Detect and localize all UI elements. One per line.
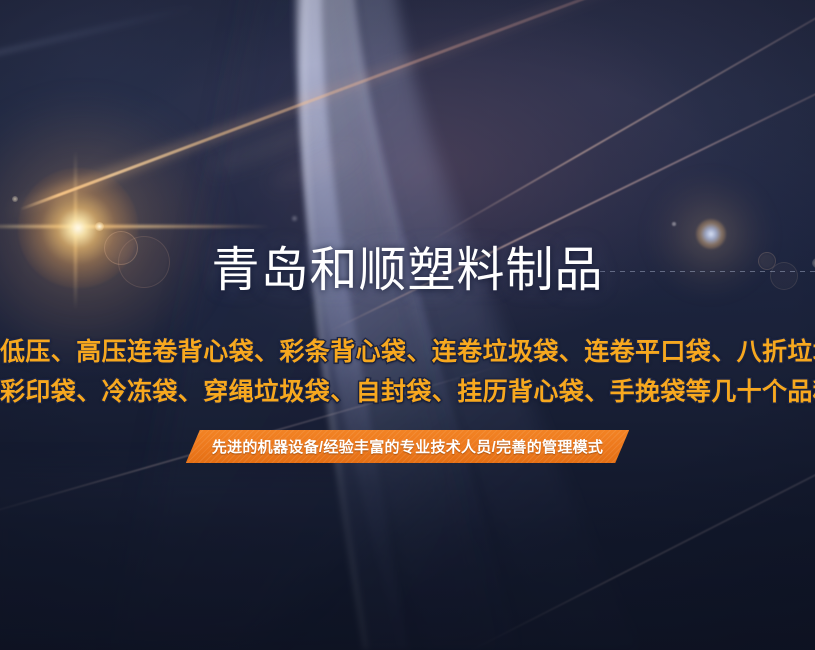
product-list: 低压、高压连卷背心袋、彩条背心袋、连卷垃圾袋、连卷平口袋、八折垃圾袋、 彩印袋、…: [0, 332, 815, 412]
tagline-ribbon-label: 先进的机器设备/经验丰富的专业技术人员/完善的管理模式: [212, 436, 603, 457]
tagline-ribbon: 先进的机器设备/经验丰富的专业技术人员/完善的管理模式: [186, 430, 629, 463]
promo-banner: 青岛和顺塑料制品 低压、高压连卷背心袋、彩条背心袋、连卷垃圾袋、连卷平口袋、八折…: [0, 0, 815, 650]
product-line-2: 彩印袋、冷冻袋、穿绳垃圾袋、自封袋、挂历背心袋、手挽袋等几十个品种: [0, 372, 815, 412]
product-line-1: 低压、高压连卷背心袋、彩条背心袋、连卷垃圾袋、连卷平口袋、八折垃圾袋、: [0, 332, 815, 372]
banner-content: 青岛和顺塑料制品 低压、高压连卷背心袋、彩条背心袋、连卷垃圾袋、连卷平口袋、八折…: [0, 0, 815, 650]
tagline-ribbon-wrapper: 先进的机器设备/经验丰富的专业技术人员/完善的管理模式: [0, 430, 815, 463]
page-title: 青岛和顺塑料制品: [0, 244, 815, 298]
